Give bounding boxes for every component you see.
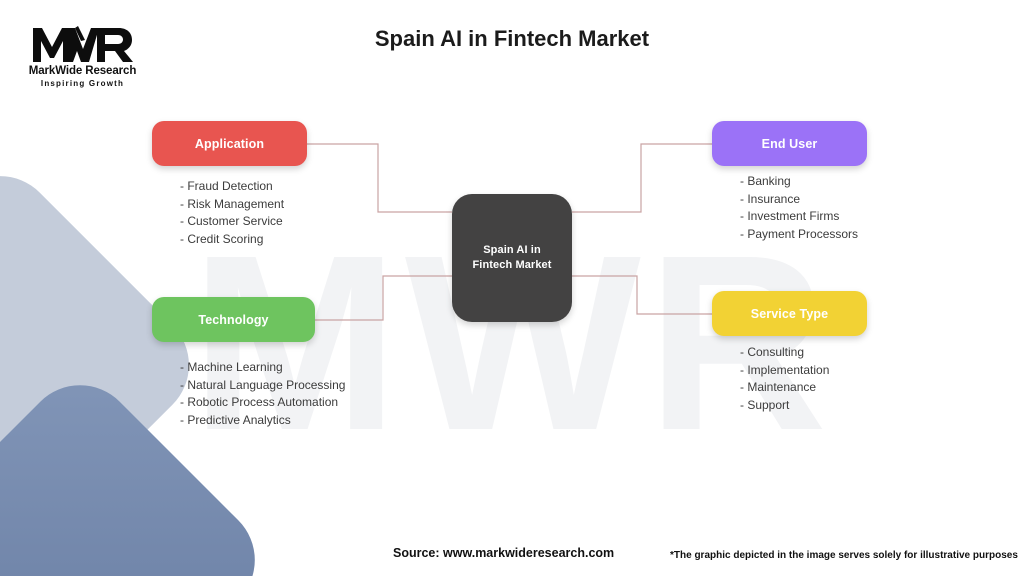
node-end-user[interactable]: End User	[712, 121, 867, 166]
connector-service-type	[572, 276, 712, 314]
list-item: - Predictive Analytics	[180, 412, 345, 430]
list-item: - Natural Language Processing	[180, 377, 345, 395]
list-technology: - Machine Learning - Natural Language Pr…	[180, 359, 345, 429]
list-item: - Banking	[740, 173, 858, 191]
node-technology[interactable]: Technology	[152, 297, 315, 342]
list-item: - Customer Service	[180, 213, 284, 231]
node-application[interactable]: Application	[152, 121, 307, 166]
footer-disclaimer: *The graphic depicted in the image serve…	[670, 550, 1018, 561]
node-center[interactable]: Spain AI in Fintech Market	[452, 194, 572, 322]
list-item: - Robotic Process Automation	[180, 394, 345, 412]
list-item: - Implementation	[740, 362, 829, 380]
list-item: - Payment Processors	[740, 226, 858, 244]
connector-technology	[315, 276, 452, 320]
connector-application	[307, 144, 452, 212]
list-item: - Machine Learning	[180, 359, 345, 377]
list-item: - Investment Firms	[740, 208, 858, 226]
node-center-label: Spain AI in Fintech Market	[452, 243, 572, 273]
node-end-user-label: End User	[762, 137, 818, 151]
node-service-type-label: Service Type	[751, 307, 828, 321]
node-application-label: Application	[195, 137, 264, 151]
node-service-type[interactable]: Service Type	[712, 291, 867, 336]
list-application: - Fraud Detection - Risk Management - Cu…	[180, 178, 284, 248]
connector-end-user	[572, 144, 712, 212]
list-item: - Credit Scoring	[180, 231, 284, 249]
footer-source: Source: www.markwideresearch.com	[393, 546, 614, 560]
list-item: - Support	[740, 397, 829, 415]
list-end-user: - Banking - Insurance - Investment Firms…	[740, 173, 858, 243]
slide-canvas: MWR MarkWide Research Inspiring Growth S…	[0, 0, 1024, 576]
list-item: - Consulting	[740, 344, 829, 362]
list-item: - Insurance	[740, 191, 858, 209]
list-item: - Risk Management	[180, 196, 284, 214]
node-technology-label: Technology	[198, 313, 268, 327]
list-service-type: - Consulting - Implementation - Maintena…	[740, 344, 829, 414]
list-item: - Maintenance	[740, 379, 829, 397]
list-item: - Fraud Detection	[180, 178, 284, 196]
